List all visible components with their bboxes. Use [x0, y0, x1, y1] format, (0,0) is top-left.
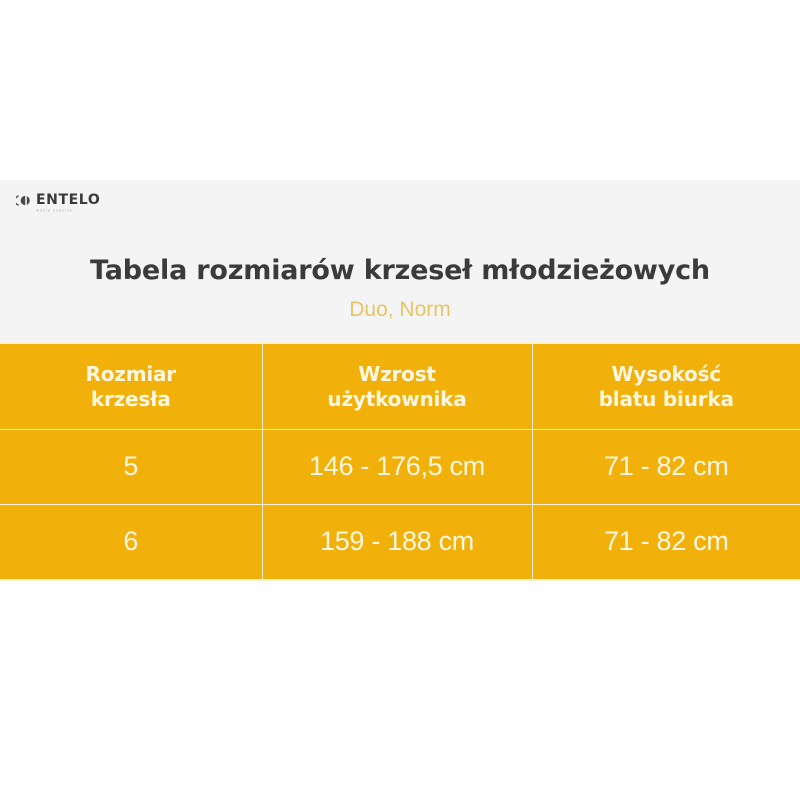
column-header-desk-height: Wysokość blatu biurka — [532, 343, 800, 430]
column-header-line-1: Rozmiar — [86, 362, 176, 386]
table-row: 5 146 - 176,5 cm 71 - 82 cm — [0, 430, 800, 505]
cell-desk-height: 71 - 82 cm — [532, 505, 800, 581]
column-header-line-2: krzesła — [91, 387, 171, 411]
size-chart-page: ENTELO meble szkolne Tabela rozmiarów kr… — [0, 0, 800, 800]
column-header-chair-size: Rozmiar krzesła — [0, 343, 262, 430]
cell-desk-height: 71 - 82 cm — [532, 430, 800, 505]
column-header-line-1: Wzrost — [358, 362, 436, 386]
page-title: Tabela rozmiarów krzeseł młodzieżowych — [0, 256, 800, 286]
column-header-line-2: użytkownika — [327, 387, 466, 411]
column-header-line-2: blatu biurka — [599, 387, 734, 411]
cell-user-height: 159 - 188 cm — [262, 505, 532, 581]
cell-chair-size: 5 — [0, 430, 262, 505]
cell-chair-size: 6 — [0, 505, 262, 581]
brand-name: ENTELO — [36, 193, 100, 207]
table-body: 5 146 - 176,5 cm 71 - 82 cm 6 159 - 188 … — [0, 430, 800, 581]
brand-logo: ENTELO meble szkolne — [16, 193, 100, 212]
column-header-line-1: Wysokość — [612, 362, 721, 386]
column-header-user-height: Wzrost użytkownika — [262, 343, 532, 430]
brand-logo-row: ENTELO — [16, 193, 100, 207]
size-chart-table: Rozmiar krzesła Wzrost użytkownika Wysok… — [0, 342, 800, 581]
page-subtitle: Duo, Norm — [0, 298, 800, 321]
brand-tagline: meble szkolne — [36, 209, 73, 213]
cell-user-height: 146 - 176,5 cm — [262, 430, 532, 505]
table-row: 6 159 - 188 cm 71 - 82 cm — [0, 505, 800, 581]
table-header-row: Rozmiar krzesła Wzrost użytkownika Wysok… — [0, 343, 800, 430]
entelo-circle-mark-icon — [16, 194, 32, 207]
table-header: Rozmiar krzesła Wzrost użytkownika Wysok… — [0, 343, 800, 430]
